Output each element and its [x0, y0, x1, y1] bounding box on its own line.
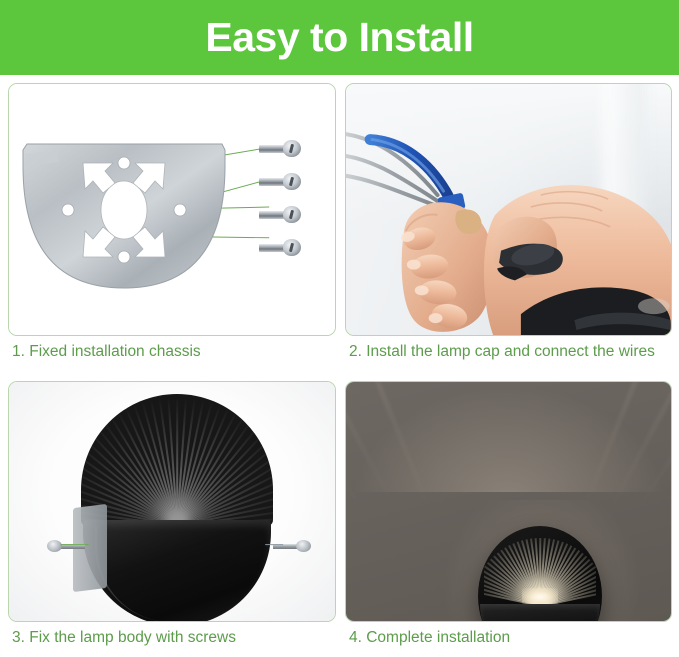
step-2-image-frame	[345, 83, 672, 336]
steps-grid: 1. Fixed installation chassis	[0, 78, 679, 657]
mounting-plate-shape	[17, 136, 232, 296]
screw-set	[259, 140, 319, 275]
step-4-caption: 4. Complete installation	[345, 628, 672, 647]
step-card-1: 1. Fixed installation chassis	[8, 83, 336, 383]
step-4-image-frame	[345, 381, 672, 622]
header-banner: Easy to Install	[0, 0, 679, 75]
lamp-lower-dome	[480, 604, 600, 621]
step-3-caption: 3. Fix the lamp body with screws	[8, 628, 336, 647]
step-1-caption: 1. Fixed installation chassis	[8, 342, 336, 361]
screw-3	[259, 206, 304, 223]
step-card-3: 3. Fix the lamp body with screws	[8, 381, 336, 657]
screw-1	[259, 140, 304, 157]
installed-lamp	[478, 526, 602, 621]
screw-2	[259, 173, 304, 190]
step-card-4: 4. Complete installation	[345, 381, 672, 657]
wall-ambient-glow	[346, 382, 671, 492]
installed-lamp-photo	[346, 382, 671, 621]
screw-4	[259, 239, 304, 256]
wiring-photo	[346, 84, 671, 335]
step-2-caption: 2. Install the lamp cap and connect the …	[345, 342, 672, 361]
step-1-image-frame	[8, 83, 336, 336]
page-title: Easy to Install	[205, 17, 473, 58]
hands-and-wires-artwork	[346, 84, 671, 335]
lamp-body-illustration	[9, 382, 335, 621]
step-3-image-frame	[8, 381, 336, 622]
mounting-plate-illustration	[9, 84, 335, 335]
lamp-screw-leader-lines	[9, 382, 335, 621]
lamp-body	[478, 526, 602, 621]
install-guide-page: Easy to Install	[0, 0, 679, 657]
step-card-2: 2. Install the lamp cap and connect the …	[345, 83, 672, 383]
